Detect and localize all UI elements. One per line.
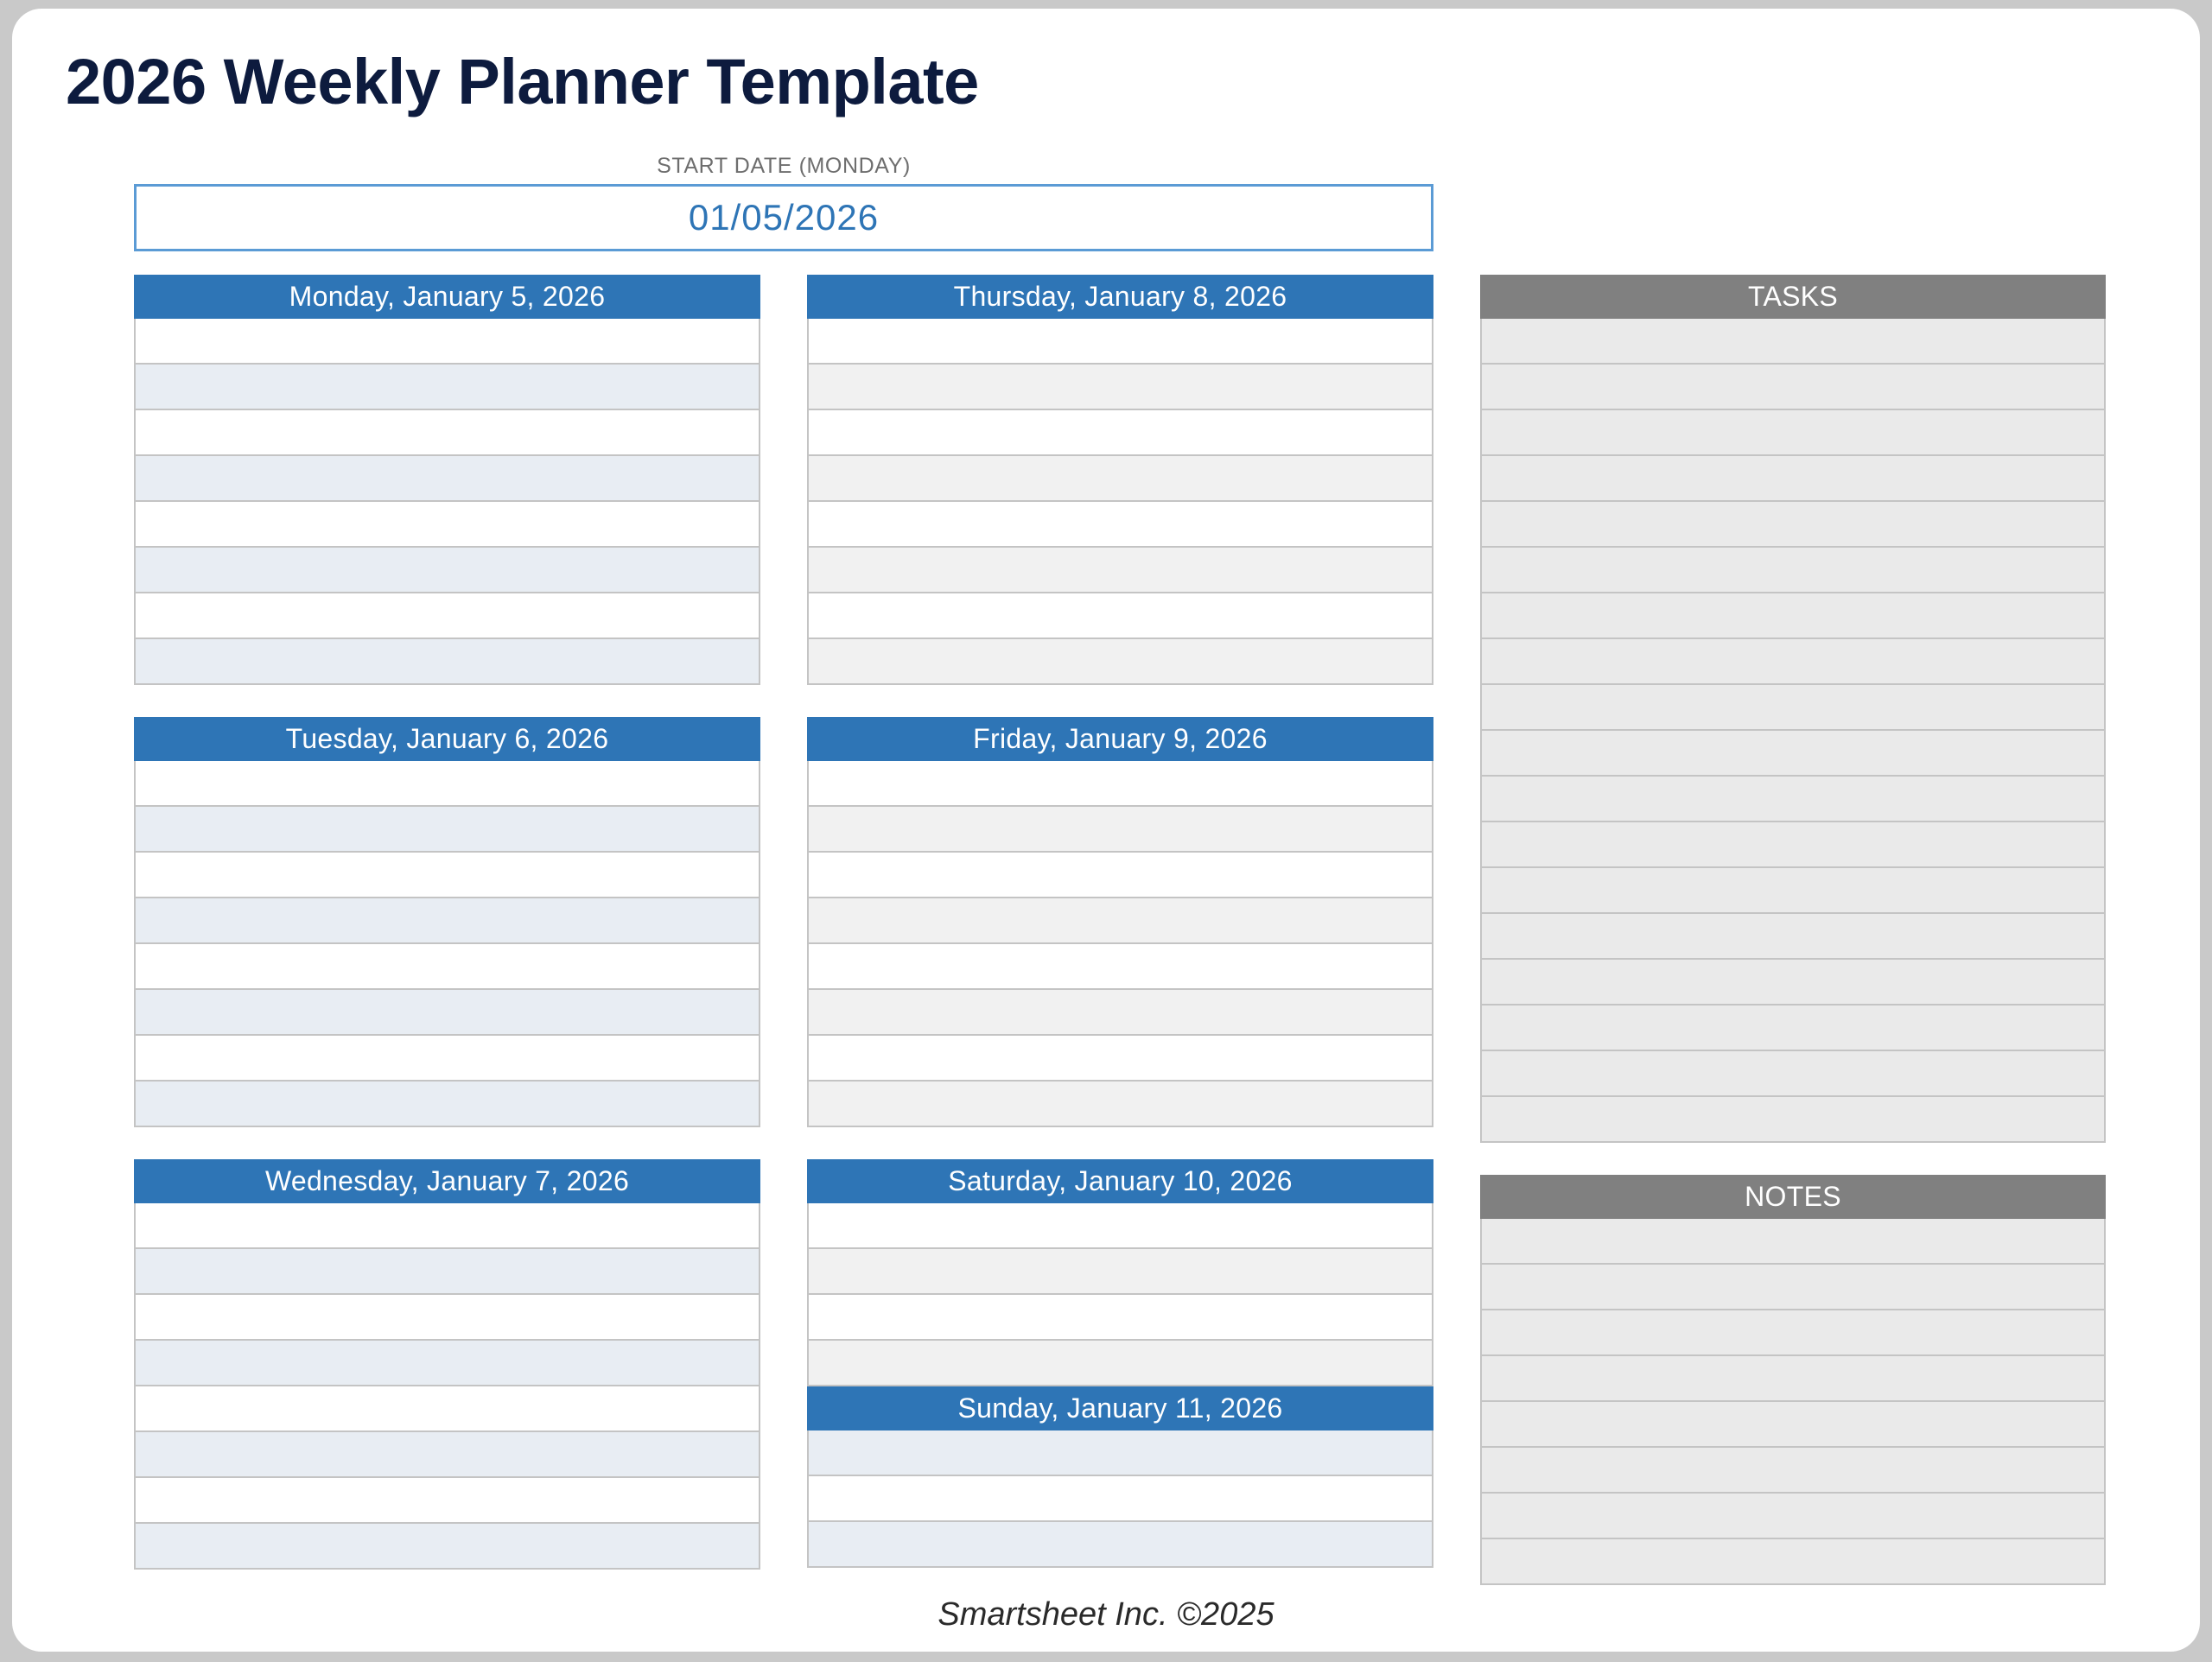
entry-row[interactable] <box>1480 1494 2106 1539</box>
entry-row[interactable] <box>134 761 760 807</box>
entry-row[interactable] <box>807 1082 1433 1127</box>
entry-row[interactable] <box>807 639 1433 685</box>
entry-row[interactable] <box>1480 410 2106 456</box>
start-date-value[interactable]: 01/05/2026 <box>689 197 879 238</box>
entry-row[interactable] <box>807 1430 1433 1476</box>
entry-rows <box>1480 319 2106 1143</box>
entry-row[interactable] <box>807 502 1433 548</box>
day-header-friday-january-9-2026: Friday, January 9, 2026 <box>807 717 1433 761</box>
entry-row[interactable] <box>807 1295 1433 1341</box>
entry-rows <box>134 1203 760 1570</box>
entry-row[interactable] <box>807 410 1433 456</box>
entry-row[interactable] <box>807 1522 1433 1568</box>
entry-row[interactable] <box>807 456 1433 502</box>
entry-row[interactable] <box>807 990 1433 1036</box>
entry-row[interactable] <box>134 990 760 1036</box>
entry-row[interactable] <box>807 365 1433 410</box>
entry-rows <box>134 761 760 1127</box>
entry-row[interactable] <box>1480 731 2106 777</box>
day-block-friday-january-9-2026: Friday, January 9, 2026 <box>807 717 1433 1127</box>
entry-row[interactable] <box>134 807 760 853</box>
entry-rows <box>807 319 1433 685</box>
day-header-wednesday-january-7-2026: Wednesday, January 7, 2026 <box>134 1159 760 1203</box>
day-header-saturday-january-10-2026: Saturday, January 10, 2026 <box>807 1159 1433 1203</box>
entry-row[interactable] <box>1480 1448 2106 1494</box>
entry-rows <box>1480 1219 2106 1585</box>
day-block-wednesday-january-7-2026: Wednesday, January 7, 2026 <box>134 1159 760 1570</box>
entry-row[interactable] <box>807 1476 1433 1522</box>
entry-row[interactable] <box>134 410 760 456</box>
entry-row[interactable] <box>134 1203 760 1249</box>
entry-row[interactable] <box>807 548 1433 593</box>
entry-row[interactable] <box>134 456 760 502</box>
entry-row[interactable] <box>807 1036 1433 1082</box>
day-header-tuesday-january-6-2026: Tuesday, January 6, 2026 <box>134 717 760 761</box>
entry-row[interactable] <box>134 1432 760 1478</box>
entry-row[interactable] <box>134 1082 760 1127</box>
day-block-tuesday-january-6-2026: Tuesday, January 6, 2026 <box>134 717 760 1127</box>
day-block-monday-january-5-2026: Monday, January 5, 2026 <box>134 275 760 685</box>
entry-row[interactable] <box>1480 1356 2106 1402</box>
entry-row[interactable] <box>1480 365 2106 410</box>
start-date-label: START DATE (MONDAY) <box>134 154 1433 179</box>
entry-rows <box>134 319 760 685</box>
entry-row[interactable] <box>134 548 760 593</box>
entry-row[interactable] <box>134 593 760 639</box>
entry-row[interactable] <box>1480 456 2106 502</box>
entry-row[interactable] <box>134 319 760 365</box>
entry-row[interactable] <box>1480 319 2106 365</box>
entry-row[interactable] <box>807 761 1433 807</box>
entry-row[interactable] <box>134 1386 760 1432</box>
entry-row[interactable] <box>1480 914 2106 960</box>
column-middle: Thursday, January 8, 2026Friday, January… <box>807 275 1433 1568</box>
entry-row[interactable] <box>134 898 760 944</box>
panel-header-tasks: TASKS <box>1480 275 2106 319</box>
day-header-monday-january-5-2026: Monday, January 5, 2026 <box>134 275 760 319</box>
panel-header-notes: NOTES <box>1480 1175 2106 1219</box>
entry-row[interactable] <box>807 1203 1433 1249</box>
entry-row[interactable] <box>1480 777 2106 822</box>
entry-row[interactable] <box>807 807 1433 853</box>
entry-row[interactable] <box>134 1036 760 1082</box>
entry-row[interactable] <box>1480 960 2106 1005</box>
entry-row[interactable] <box>1480 685 2106 731</box>
day-block-thursday-january-8-2026: Thursday, January 8, 2026 <box>807 275 1433 685</box>
entry-row[interactable] <box>1480 822 2106 868</box>
entry-row[interactable] <box>134 1478 760 1524</box>
entry-row[interactable] <box>134 1249 760 1295</box>
footer-credit: Smartsheet Inc. ©2025 <box>12 1596 2200 1633</box>
entry-row[interactable] <box>1480 1005 2106 1051</box>
entry-row[interactable] <box>134 365 760 410</box>
column-left: Monday, January 5, 2026Tuesday, January … <box>134 275 760 1570</box>
entry-row[interactable] <box>1480 502 2106 548</box>
panel-tasks: TASKS <box>1480 275 2106 1143</box>
entry-row[interactable] <box>1480 1402 2106 1448</box>
entry-row[interactable] <box>807 319 1433 365</box>
start-date-input[interactable]: 01/05/2026 <box>134 184 1433 251</box>
day-header-sunday-january-11-2026: Sunday, January 11, 2026 <box>807 1386 1433 1430</box>
entry-row[interactable] <box>134 853 760 898</box>
entry-row[interactable] <box>1480 1219 2106 1265</box>
entry-rows <box>807 1203 1433 1386</box>
entry-row[interactable] <box>807 1249 1433 1295</box>
entry-rows <box>807 761 1433 1127</box>
entry-row[interactable] <box>134 502 760 548</box>
day-header-thursday-january-8-2026: Thursday, January 8, 2026 <box>807 275 1433 319</box>
day-block-saturday-january-10-2026: Saturday, January 10, 2026 <box>807 1159 1433 1386</box>
entry-row[interactable] <box>134 639 760 685</box>
planner-page: 2026 Weekly Planner Template START DATE … <box>12 9 2200 1652</box>
entry-row[interactable] <box>807 853 1433 898</box>
entry-row[interactable] <box>807 944 1433 990</box>
entry-row[interactable] <box>1480 1310 2106 1356</box>
page-title: 2026 Weekly Planner Template <box>66 45 979 118</box>
panel-notes: NOTES <box>1480 1175 2106 1585</box>
entry-row[interactable] <box>1480 1539 2106 1585</box>
entry-row[interactable] <box>807 1341 1433 1386</box>
entry-row[interactable] <box>1480 868 2106 914</box>
entry-row[interactable] <box>807 898 1433 944</box>
entry-row[interactable] <box>1480 1097 2106 1143</box>
entry-row[interactable] <box>807 593 1433 639</box>
entry-row[interactable] <box>134 944 760 990</box>
entry-rows <box>807 1430 1433 1568</box>
day-block-sunday-january-11-2026: Sunday, January 11, 2026 <box>807 1386 1433 1568</box>
entry-row[interactable] <box>1480 1265 2106 1310</box>
entry-row[interactable] <box>1480 1051 2106 1097</box>
entry-row[interactable] <box>1480 548 2106 593</box>
entry-row[interactable] <box>134 1524 760 1570</box>
start-date-group: START DATE (MONDAY) 01/05/2026 <box>134 154 1433 251</box>
entry-row[interactable] <box>1480 639 2106 685</box>
entry-row[interactable] <box>134 1341 760 1386</box>
entry-row[interactable] <box>134 1295 760 1341</box>
entry-row[interactable] <box>1480 593 2106 639</box>
column-right: TASKSNOTES <box>1480 275 2106 1585</box>
